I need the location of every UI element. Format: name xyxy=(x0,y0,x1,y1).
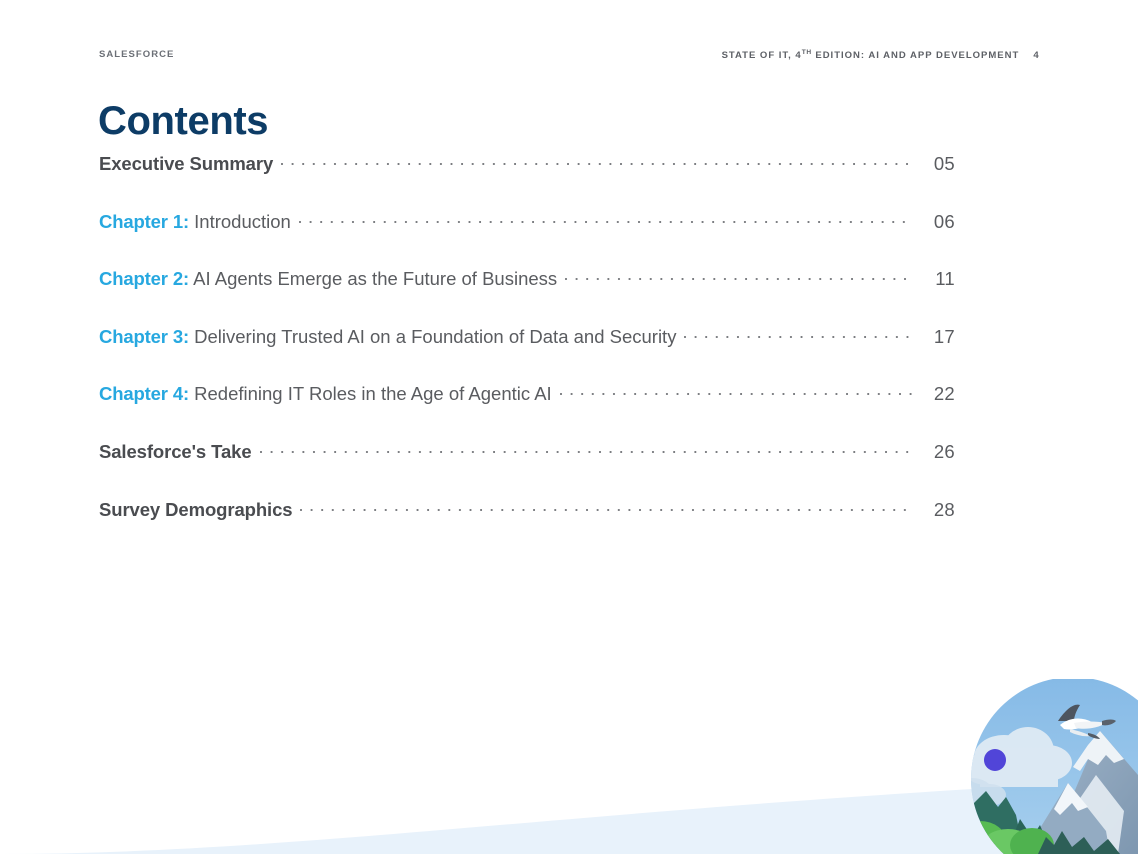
toc-entry-chapter-2[interactable]: Chapter 2: AI Agents Emerge as the Futur… xyxy=(99,267,955,325)
toc-entry-page: 11 xyxy=(915,268,955,290)
seagull-icon xyxy=(1058,705,1116,739)
corner-illustration xyxy=(928,679,1138,854)
toc-chapter-title: Delivering Trusted AI on a Foundation of… xyxy=(194,326,676,347)
toc-entry-chapter-3[interactable]: Chapter 3: Delivering Trusted AI on a Fo… xyxy=(99,325,955,383)
running-title-superscript: TH xyxy=(802,49,812,56)
mountain-front xyxy=(1024,783,1110,854)
pine-ridge xyxy=(962,791,1024,854)
toc-entry-label: Chapter 2: AI Agents Emerge as the Futur… xyxy=(99,268,557,290)
toc-chapter-number: Chapter 4: xyxy=(99,383,189,404)
toc-entry-salesforce-take[interactable]: Salesforce's Take 26 xyxy=(99,440,955,498)
toc-entry-chapter-4[interactable]: Chapter 4: Redefining IT Roles in the Ag… xyxy=(99,382,955,440)
toc-entry-label: Salesforce's Take xyxy=(99,441,252,463)
toc-entry-page: 26 xyxy=(915,441,955,463)
toc-entry-label: Chapter 1: Introduction xyxy=(99,211,291,233)
dot-leader xyxy=(299,210,913,228)
pine-ridge-2 xyxy=(1006,819,1052,854)
toc-chapter-number: Chapter 1: xyxy=(99,211,189,232)
toc-entry-label: Survey Demographics xyxy=(99,499,292,521)
running-title-rest: EDITION: AI AND APP DEVELOPMENT xyxy=(812,50,1020,61)
toc-entry-chapter-1[interactable]: Chapter 1: Introduction 06 xyxy=(99,210,955,268)
toc-chapter-title: Redefining IT Roles in the Age of Agenti… xyxy=(194,383,552,404)
cloud-small-icon xyxy=(952,778,1006,806)
table-of-contents: Executive Summary 05 Chapter 1: Introduc… xyxy=(99,152,955,555)
page-title: Contents xyxy=(98,99,268,143)
toc-entry-label: Chapter 4: Redefining IT Roles in the Ag… xyxy=(99,383,552,405)
mountain-front-snow xyxy=(1054,783,1088,815)
toc-entry-label: Executive Summary xyxy=(99,153,273,175)
dot-leader xyxy=(260,440,913,458)
toc-chapter-title: Introduction xyxy=(194,211,291,232)
wave-shape xyxy=(0,780,1138,854)
toc-entry-survey-demographics[interactable]: Survey Demographics 28 xyxy=(99,498,955,556)
bush xyxy=(1010,828,1054,854)
running-title-main: STATE OF IT, 4 xyxy=(722,50,802,61)
cloud-icon xyxy=(964,727,1072,787)
mountain-snow xyxy=(1073,731,1124,771)
toc-entry-page: 22 xyxy=(915,383,955,405)
mountain-back xyxy=(1048,731,1138,854)
illustration-scene xyxy=(928,679,1138,854)
toc-entry-page: 17 xyxy=(915,326,955,348)
brand-label: SALESFORCE xyxy=(99,49,174,60)
sky-circle xyxy=(928,679,1138,854)
toc-entry-executive-summary[interactable]: Executive Summary 05 xyxy=(99,152,955,210)
treeline-dark xyxy=(1038,831,1120,854)
dot-leader xyxy=(281,152,913,170)
bush xyxy=(954,821,1006,854)
toc-entry-page: 28 xyxy=(915,499,955,521)
mountain-snow-lower xyxy=(1064,775,1124,854)
bush xyxy=(928,833,954,854)
bush xyxy=(928,825,980,854)
dot-leader xyxy=(565,267,913,285)
running-header: SALESFORCE STATE OF IT, 4TH EDITION: AI … xyxy=(99,49,1039,65)
toc-chapter-number: Chapter 2: xyxy=(99,268,189,289)
header-page-number: 4 xyxy=(1033,50,1039,61)
bottom-wave-decoration xyxy=(0,734,1138,854)
dot-leader xyxy=(560,382,913,400)
toc-entry-page: 05 xyxy=(915,153,955,175)
toc-chapter-title: AI Agents Emerge as the Future of Busine… xyxy=(193,268,557,289)
running-title: STATE OF IT, 4TH EDITION: AI AND APP DEV… xyxy=(722,49,1039,61)
foliage-group xyxy=(928,821,1054,854)
purple-dot xyxy=(984,749,1006,771)
toc-chapter-number: Chapter 3: xyxy=(99,326,189,347)
toc-entry-page: 06 xyxy=(915,211,955,233)
toc-entry-label: Chapter 3: Delivering Trusted AI on a Fo… xyxy=(99,326,676,348)
dot-leader xyxy=(684,325,913,343)
bush xyxy=(980,829,1036,854)
dot-leader xyxy=(300,498,913,516)
